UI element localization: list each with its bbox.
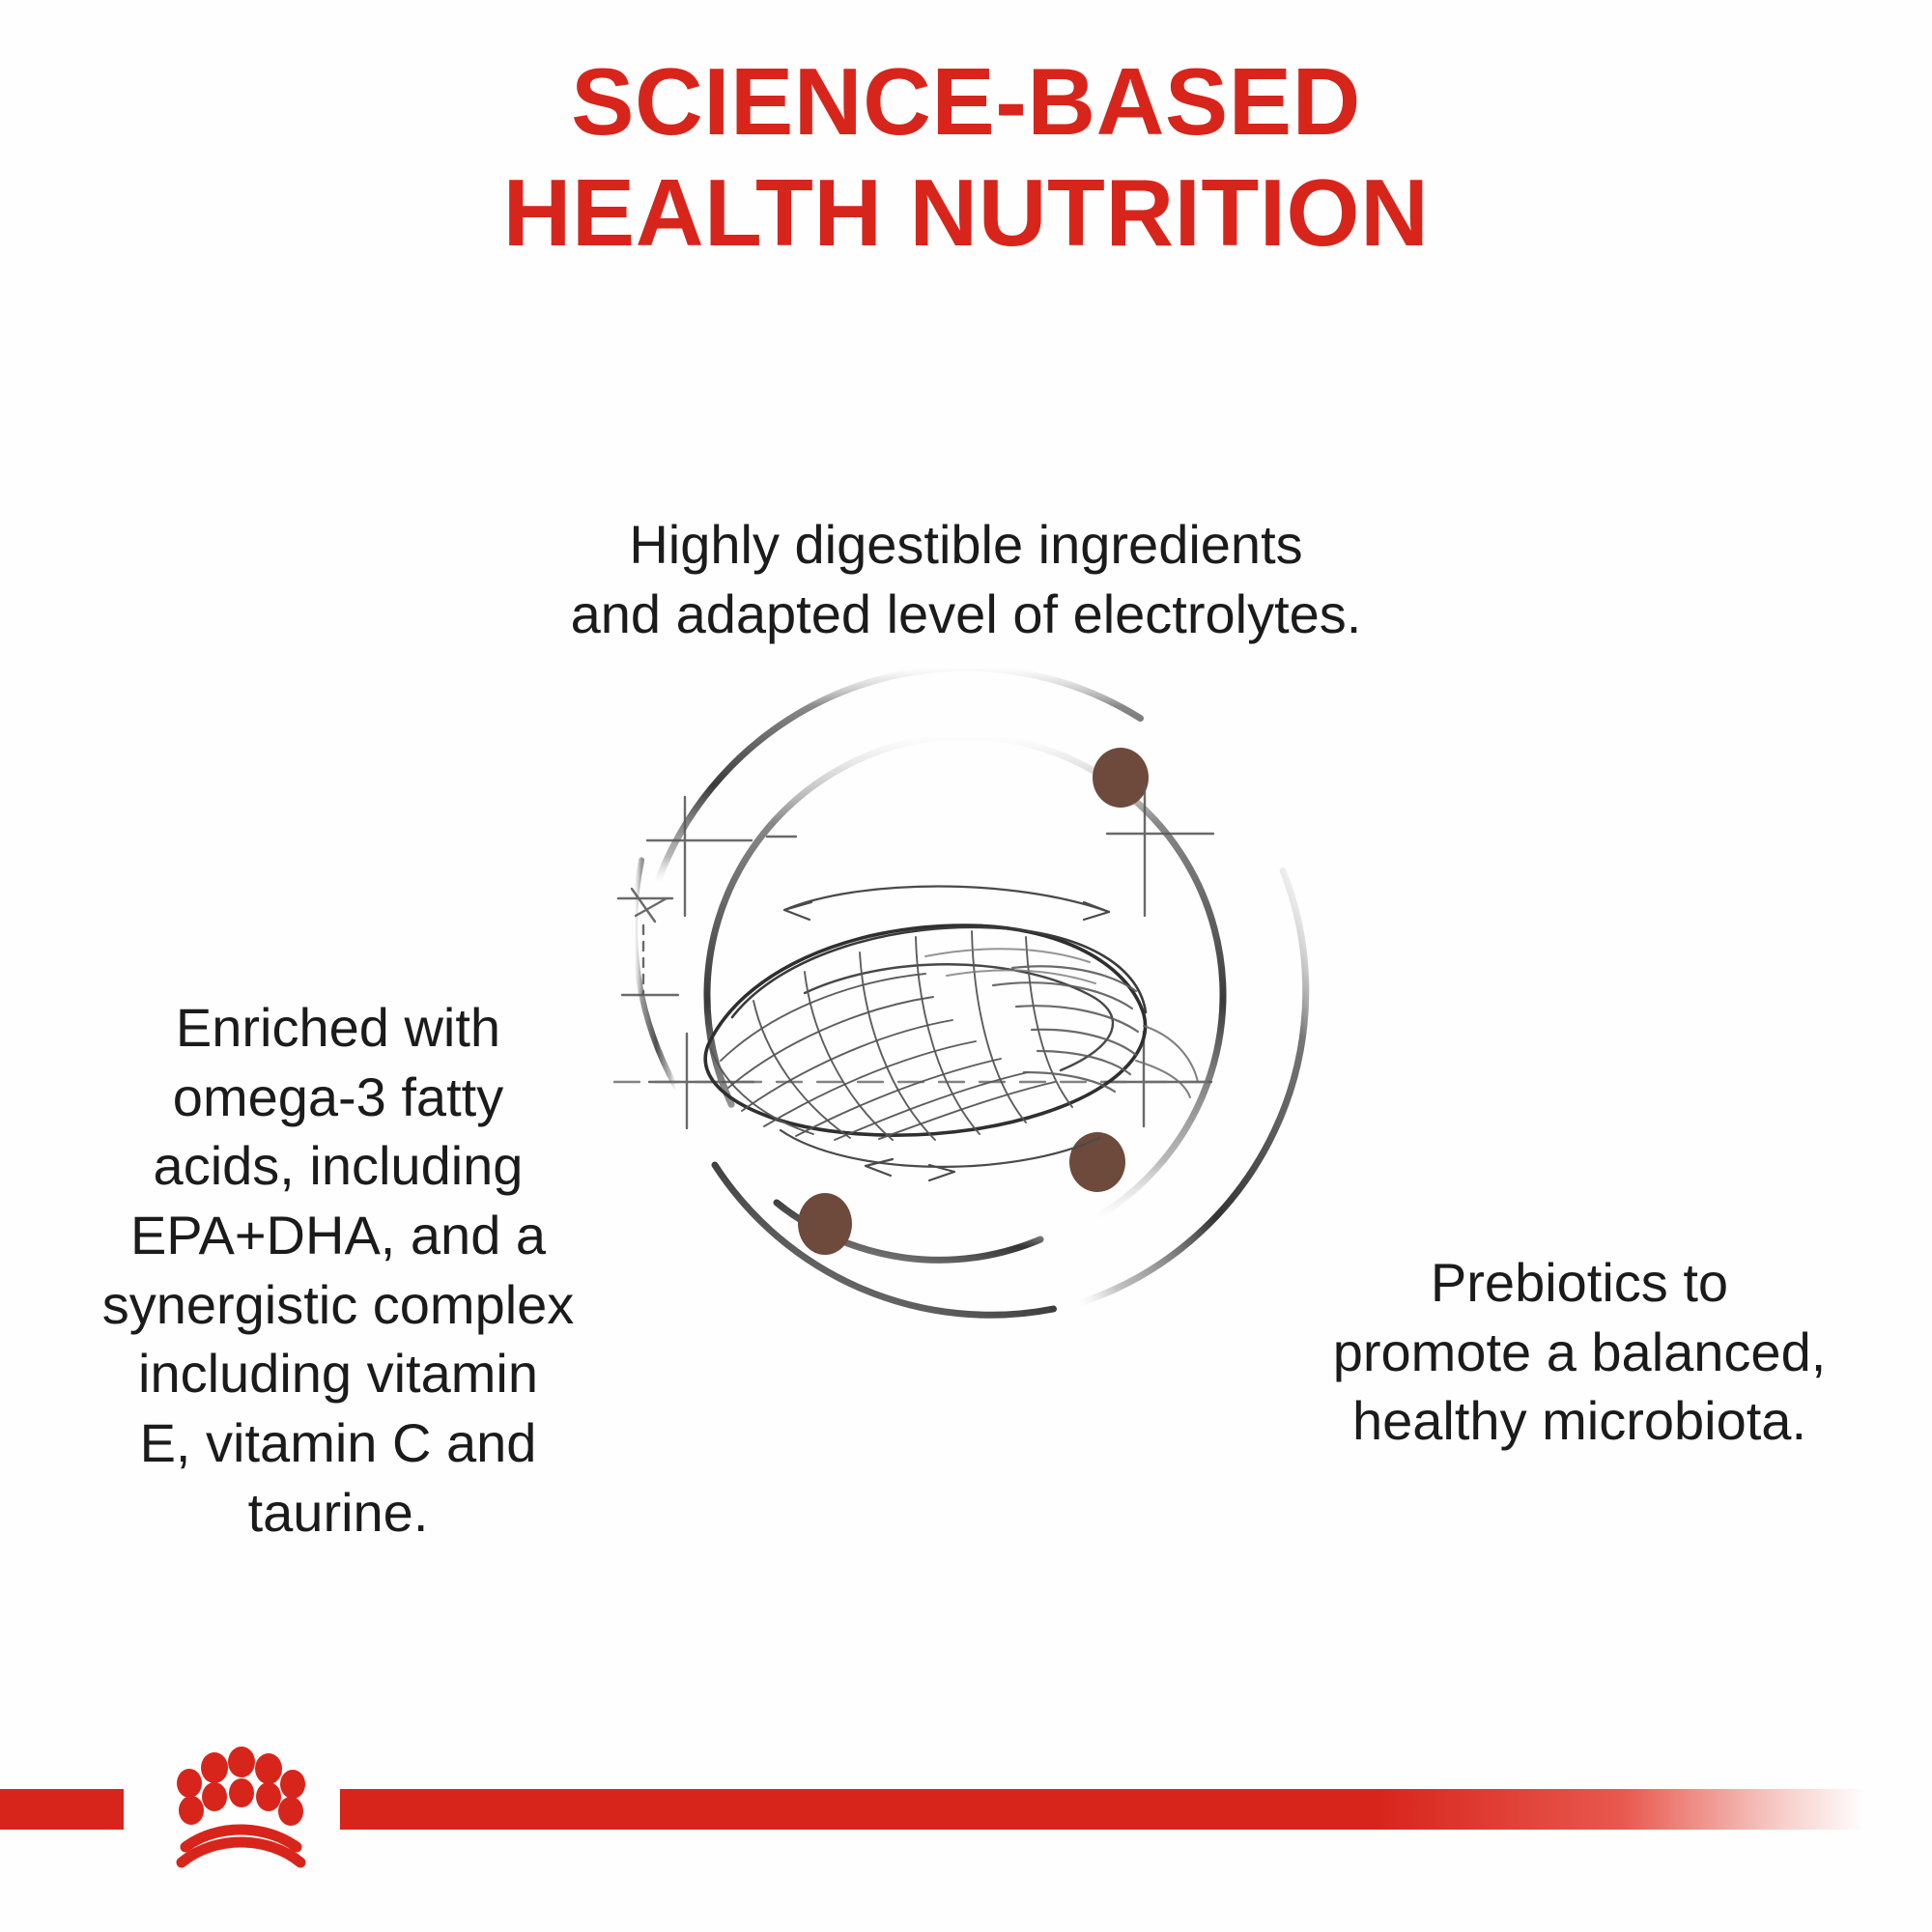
callout-omega-3-line-7: E, vitamin C and [43, 1408, 633, 1478]
callout-omega-3-line-6: including vitamin [43, 1339, 633, 1408]
title-line-1: SCIENCE-BASED [0, 46, 1932, 157]
callout-omega-3-line-4: EPA+DHA, and a [43, 1201, 633, 1270]
crown-jewels [177, 1747, 305, 1826]
footer-bar-right [340, 1789, 1866, 1830]
callout-omega-3: Enriched with omega-3 fatty acids, inclu… [43, 993, 633, 1547]
callout-omega-3-line-5: synergistic complex [43, 1270, 633, 1340]
callout-omega-3-line-3: acids, including [43, 1131, 633, 1201]
callout-digestibility: Highly digestible ingredients and adapte… [483, 510, 1449, 648]
royal-canin-crown-logo [135, 1739, 328, 1903]
callout-omega-3-line-2: omega-3 fatty [43, 1063, 633, 1132]
kibble-dot-top [1093, 748, 1149, 808]
callout-prebiotics-line-1: Prebiotics to [1270, 1248, 1889, 1318]
brand-footer [0, 1739, 1932, 1932]
callout-omega-3-line-1: Enriched with [43, 993, 633, 1063]
callout-prebiotics-line-2: promote a balanced, [1270, 1318, 1889, 1387]
callout-prebiotics-line-3: healthy microbiota. [1270, 1386, 1889, 1456]
footer-bar-left [0, 1789, 124, 1830]
callout-digestibility-line-1: Highly digestible ingredients [483, 510, 1449, 580]
kibble-dot-right [1069, 1132, 1125, 1192]
kibble-orbit-emblem [607, 636, 1325, 1354]
title-line-2: HEALTH NUTRITION [0, 157, 1932, 269]
kibble-dot-bottom-left [798, 1193, 852, 1255]
page-title: SCIENCE-BASED HEALTH NUTRITION [0, 46, 1932, 268]
crown-arches [182, 1830, 300, 1862]
outer-orbit-ring [635, 668, 1306, 1315]
callout-prebiotics: Prebiotics to promote a balanced, health… [1270, 1248, 1889, 1456]
poster-canvas: SCIENCE-BASED HEALTH NUTRITION Highly di… [0, 0, 1932, 1932]
callout-omega-3-line-8: taurine. [43, 1478, 633, 1548]
